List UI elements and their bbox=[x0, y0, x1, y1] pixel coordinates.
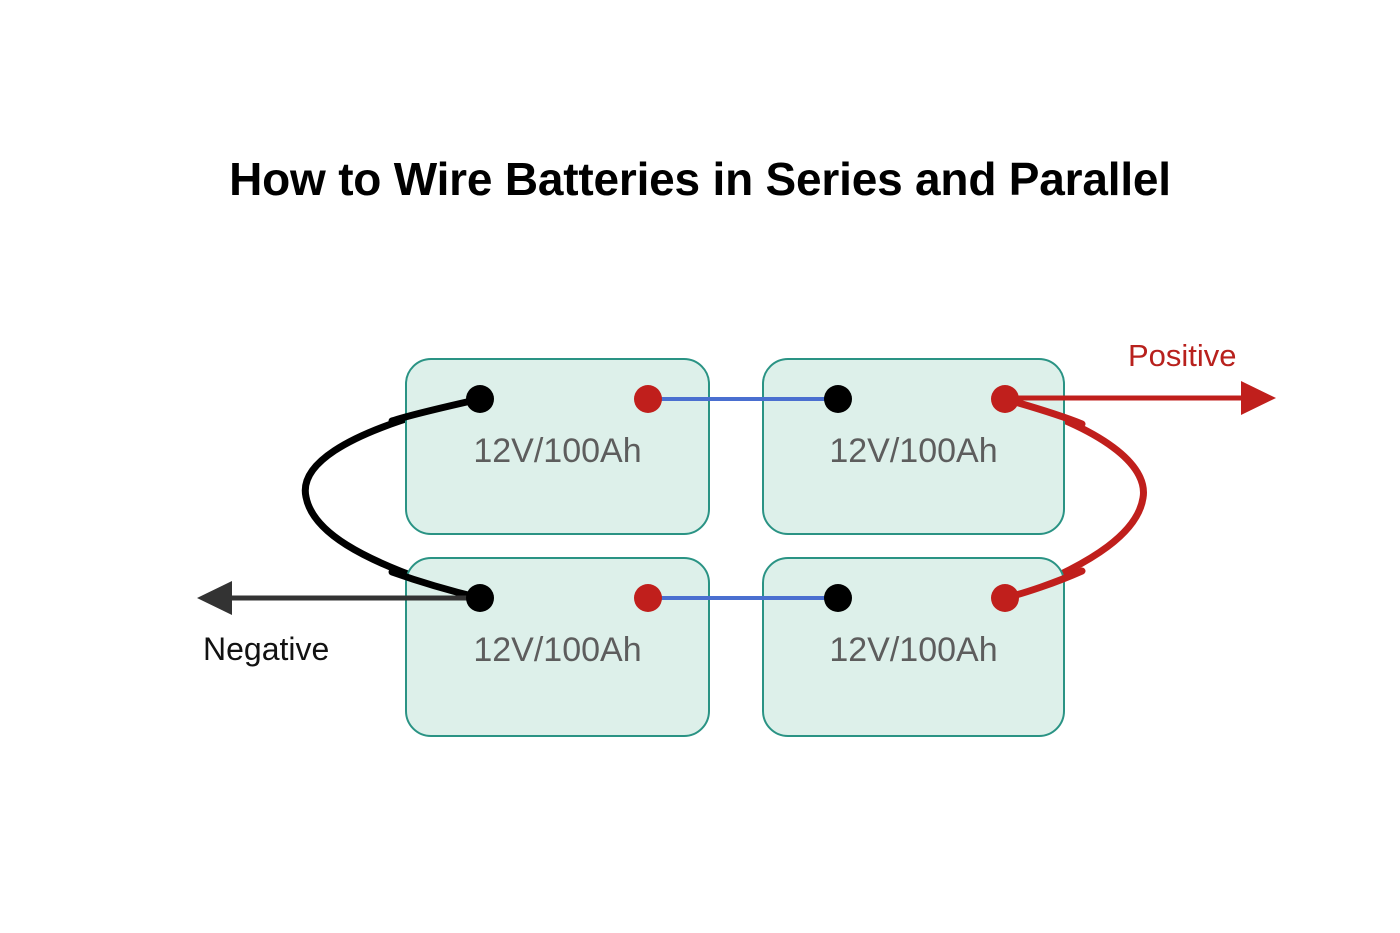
terminal-bottom-left-negative[interactable] bbox=[466, 584, 494, 612]
negative-arrowhead bbox=[197, 581, 232, 615]
terminal-top-right-positive[interactable] bbox=[991, 385, 1019, 413]
terminal-bottom-right-negative[interactable] bbox=[824, 584, 852, 612]
terminal-top-left-negative[interactable] bbox=[466, 385, 494, 413]
positive-arrowhead bbox=[1241, 381, 1276, 415]
wire-layer-front bbox=[0, 0, 1400, 933]
terminal-bottom-right-positive[interactable] bbox=[991, 584, 1019, 612]
diagram-canvas: How to Wire Batteries in Series and Para… bbox=[0, 0, 1400, 933]
terminal-top-left-positive[interactable] bbox=[634, 385, 662, 413]
positive-output-label: Positive bbox=[1128, 338, 1237, 374]
negative-output-label: Negative bbox=[203, 631, 329, 668]
terminal-bottom-left-positive[interactable] bbox=[634, 584, 662, 612]
terminal-top-right-negative[interactable] bbox=[824, 385, 852, 413]
